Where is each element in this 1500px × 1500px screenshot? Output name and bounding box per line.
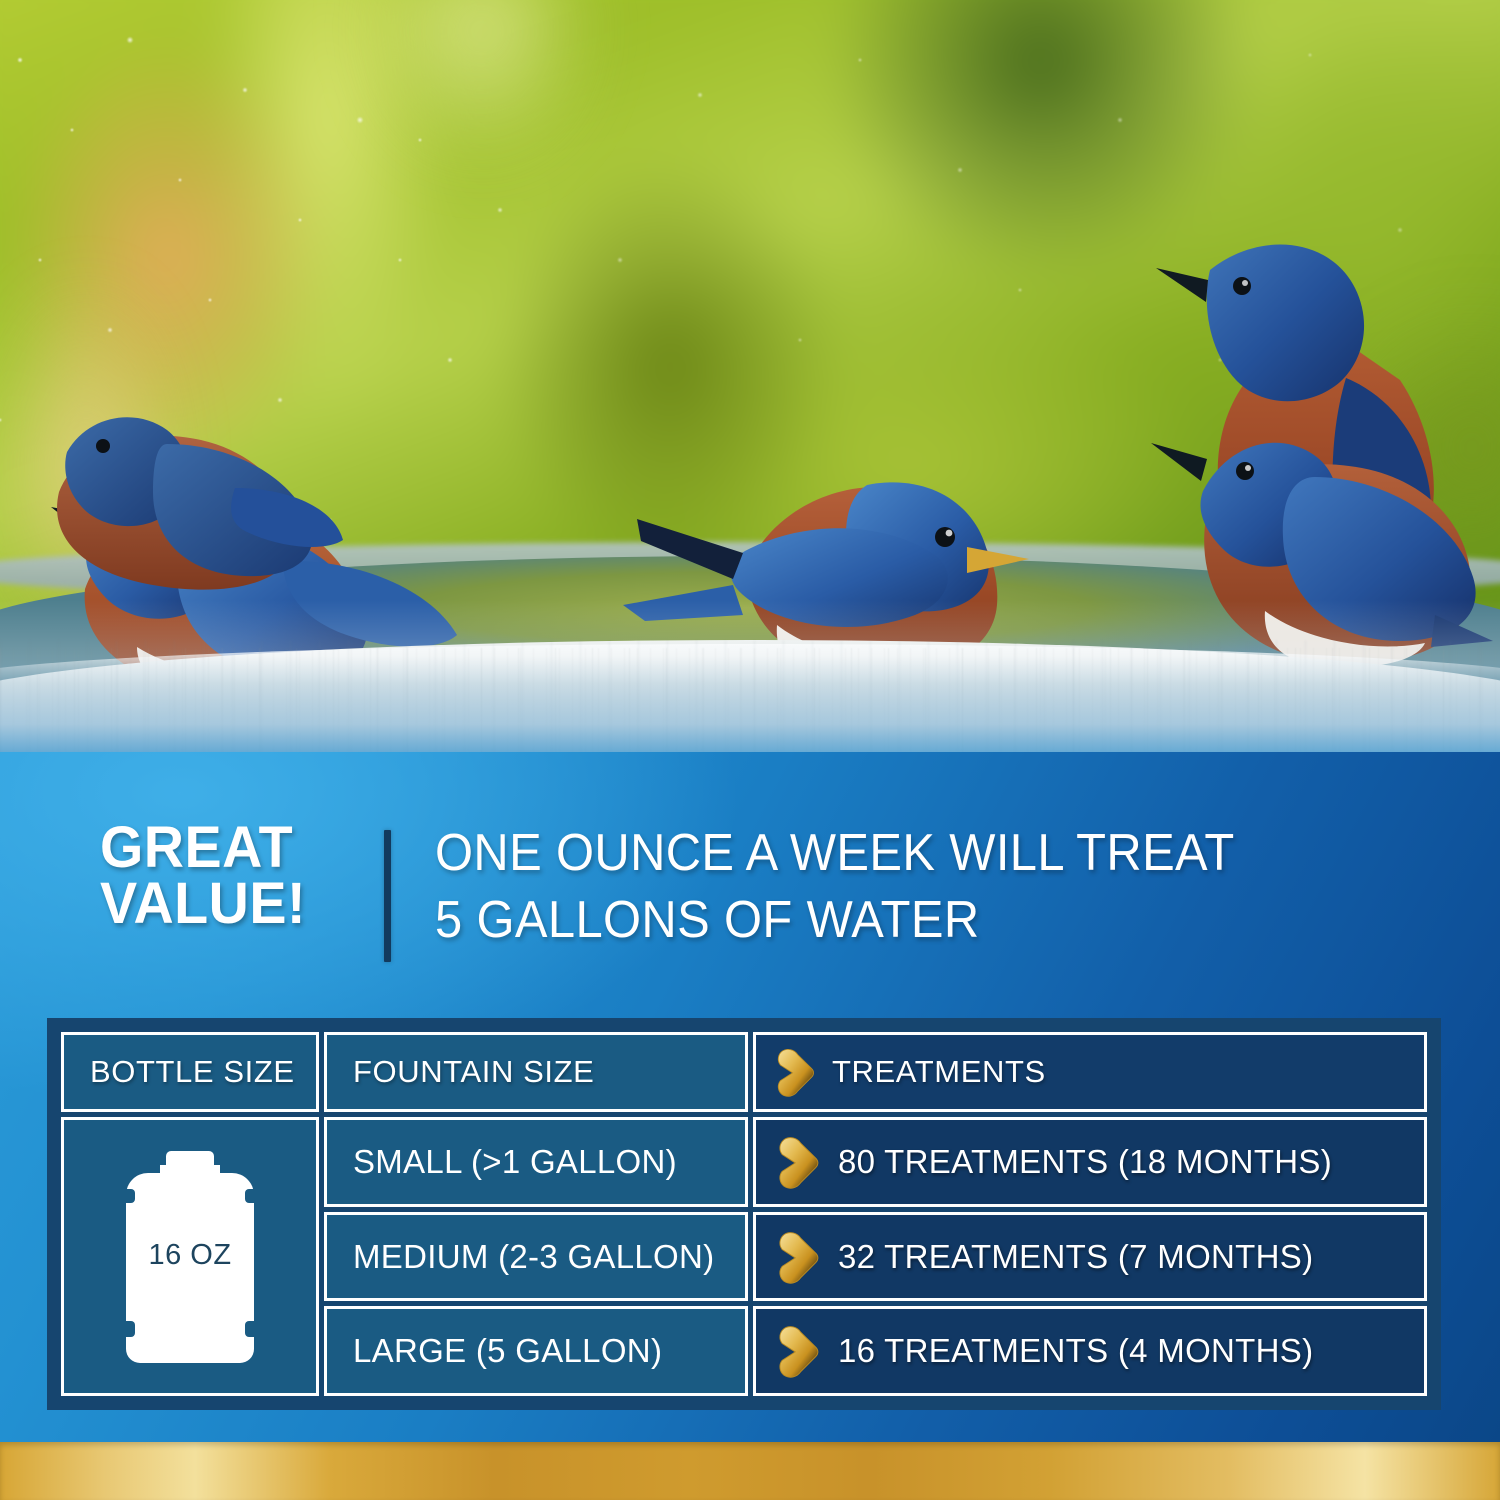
treatments-cell: 16 TREATMENTS (4 MONTHS) xyxy=(753,1306,1427,1396)
product-infographic: GREAT VALUE! ONE OUNCE A WEEK WILL TREAT… xyxy=(0,0,1500,1500)
table-row: SMALL (>1 GALLON) 80 TREATMENTS (18 MONT… xyxy=(324,1117,1427,1207)
dosage-table: BOTTLE SIZE FOUNTAIN SIZE xyxy=(47,1018,1441,1410)
fountain-size-cell: SMALL (>1 GALLON) xyxy=(324,1117,748,1207)
fountain-size-cell: LARGE (5 GALLON) xyxy=(324,1306,748,1396)
column-header-label: BOTTLE SIZE xyxy=(90,1054,295,1090)
treatments-cell: 80 TREATMENTS (18 MONTHS) xyxy=(753,1117,1427,1207)
gold-chevron-icon xyxy=(770,1134,828,1190)
table-rows: SMALL (>1 GALLON) 80 TREATMENTS (18 MONT… xyxy=(324,1117,1427,1396)
great-value-eyebrow: GREAT VALUE! xyxy=(100,820,359,933)
treatments-cell: 32 TREATMENTS (7 MONTHS) xyxy=(753,1212,1427,1302)
birdbath-rim-texture xyxy=(0,648,1500,760)
table-body: 16 OZ SMALL (>1 GALLON) xyxy=(61,1117,1427,1396)
table-row: MEDIUM (2-3 GALLON) 32 TREATMENTS (7 MON… xyxy=(324,1212,1427,1302)
treatments-label: 32 TREATMENTS (7 MONTHS) xyxy=(838,1238,1313,1276)
headline-divider xyxy=(384,830,391,962)
bottle-base-notch-left xyxy=(126,1321,135,1337)
bottle-base-notch-right xyxy=(245,1321,254,1337)
column-header-bottle-size: BOTTLE SIZE xyxy=(61,1032,319,1112)
fountain-size-label: MEDIUM (2-3 GALLON) xyxy=(353,1238,714,1276)
table-row: LARGE (5 GALLON) 16 TREATMENTS (4 MONTHS… xyxy=(324,1306,1427,1396)
bottle-shoulder-notch-right xyxy=(245,1189,254,1203)
treatments-label: 80 TREATMENTS (18 MONTHS) xyxy=(838,1143,1332,1181)
gold-chevron-icon xyxy=(770,1323,828,1379)
column-header-fountain-size: FOUNTAIN SIZE xyxy=(324,1032,748,1112)
bottle-size-cell: 16 OZ xyxy=(61,1117,319,1396)
treatments-label: 16 TREATMENTS (4 MONTHS) xyxy=(838,1332,1313,1370)
gold-footer-bar xyxy=(0,1442,1500,1500)
fountain-size-cell: MEDIUM (2-3 GALLON) xyxy=(324,1212,748,1302)
bottle-size-label: 16 OZ xyxy=(126,1239,254,1272)
fountain-size-label: SMALL (>1 GALLON) xyxy=(353,1143,677,1181)
table-header-row: BOTTLE SIZE FOUNTAIN SIZE xyxy=(61,1032,1427,1112)
gold-chevron-icon xyxy=(770,1229,828,1285)
bluebird-background-left xyxy=(25,400,345,590)
headline-block: GREAT VALUE! ONE OUNCE A WEEK WILL TREAT… xyxy=(100,820,1286,962)
column-header-label: TREATMENTS xyxy=(832,1054,1046,1090)
gold-chevron-icon xyxy=(770,1046,822,1098)
bluebird-right-center xyxy=(1135,415,1495,675)
headline-statement: ONE OUNCE A WEEK WILL TREAT 5 GALLONS OF… xyxy=(435,820,1235,953)
bottle-icon: 16 OZ xyxy=(126,1151,254,1363)
bottle-shoulder-notch-left xyxy=(126,1189,135,1203)
fountain-size-label: LARGE (5 GALLON) xyxy=(353,1332,662,1370)
column-header-treatments: TREATMENTS xyxy=(753,1032,1427,1112)
column-header-label: FOUNTAIN SIZE xyxy=(353,1054,594,1090)
hero-photo xyxy=(0,0,1500,760)
